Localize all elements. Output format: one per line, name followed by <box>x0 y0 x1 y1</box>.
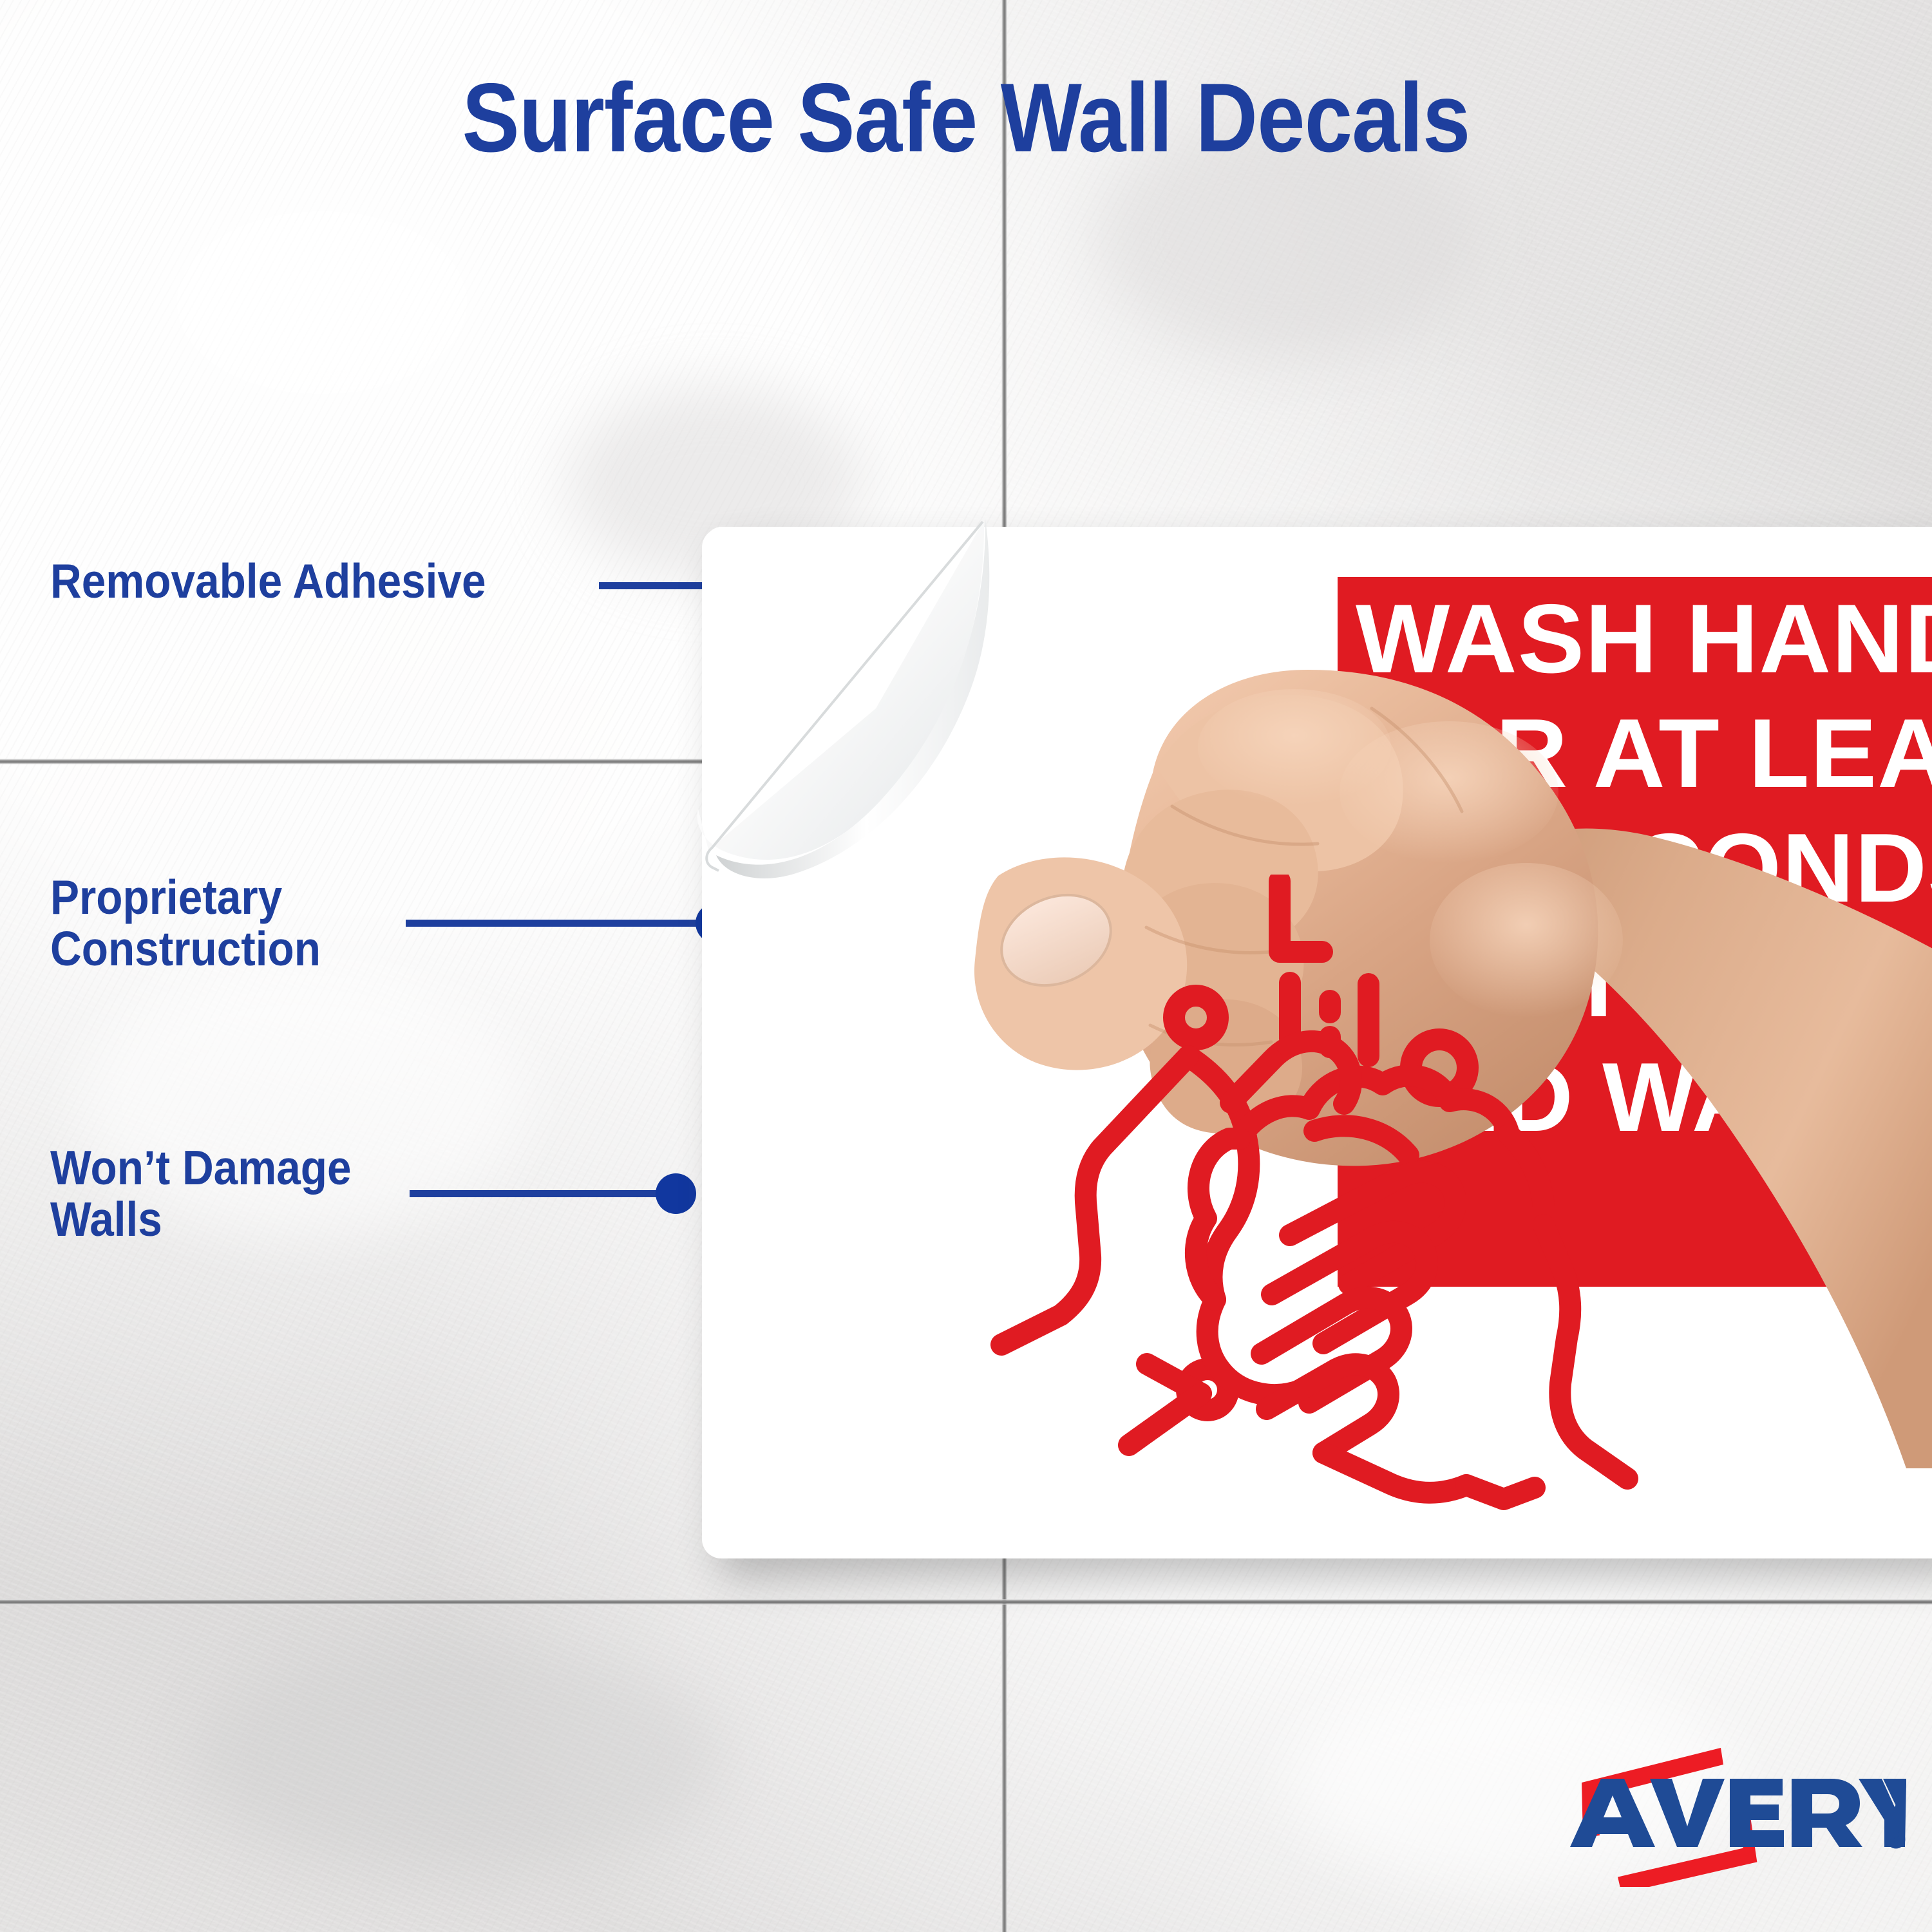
callout-leader-line <box>406 920 712 927</box>
callout-label-line2: Walls <box>50 1193 162 1245</box>
logo-wordmark <box>1570 1779 1906 1847</box>
callout-label-line1: Proprietary <box>50 871 282 923</box>
callout-removable-adhesive: Removable Adhesive <box>50 555 535 607</box>
product-marketing-image: Surface Safe Wall Decals Removable Adhes… <box>0 0 1932 1932</box>
callout-label-line2: Construction <box>50 923 321 974</box>
callout-proprietary-construction: Proprietary Construction <box>50 871 351 975</box>
wall-blotch <box>193 1642 721 1874</box>
callout-wont-damage-walls: Won’t Damage Walls <box>50 1142 385 1245</box>
callout-label: Removable Adhesive <box>50 555 486 607</box>
page-title: Surface Safe Wall Decals <box>116 62 1816 175</box>
grout-line-horizontal <box>0 1599 1932 1605</box>
callout-leader-line <box>410 1190 683 1197</box>
wall-blotch <box>155 193 489 412</box>
avery-logo: R <box>1558 1739 1906 1887</box>
callout-leader-dot <box>656 1173 696 1214</box>
washing-hands-icon-overlay <box>989 875 1658 1531</box>
callout-label-line1: Won’t Damage <box>50 1142 352 1193</box>
svg-text:R: R <box>1892 1835 1900 1846</box>
